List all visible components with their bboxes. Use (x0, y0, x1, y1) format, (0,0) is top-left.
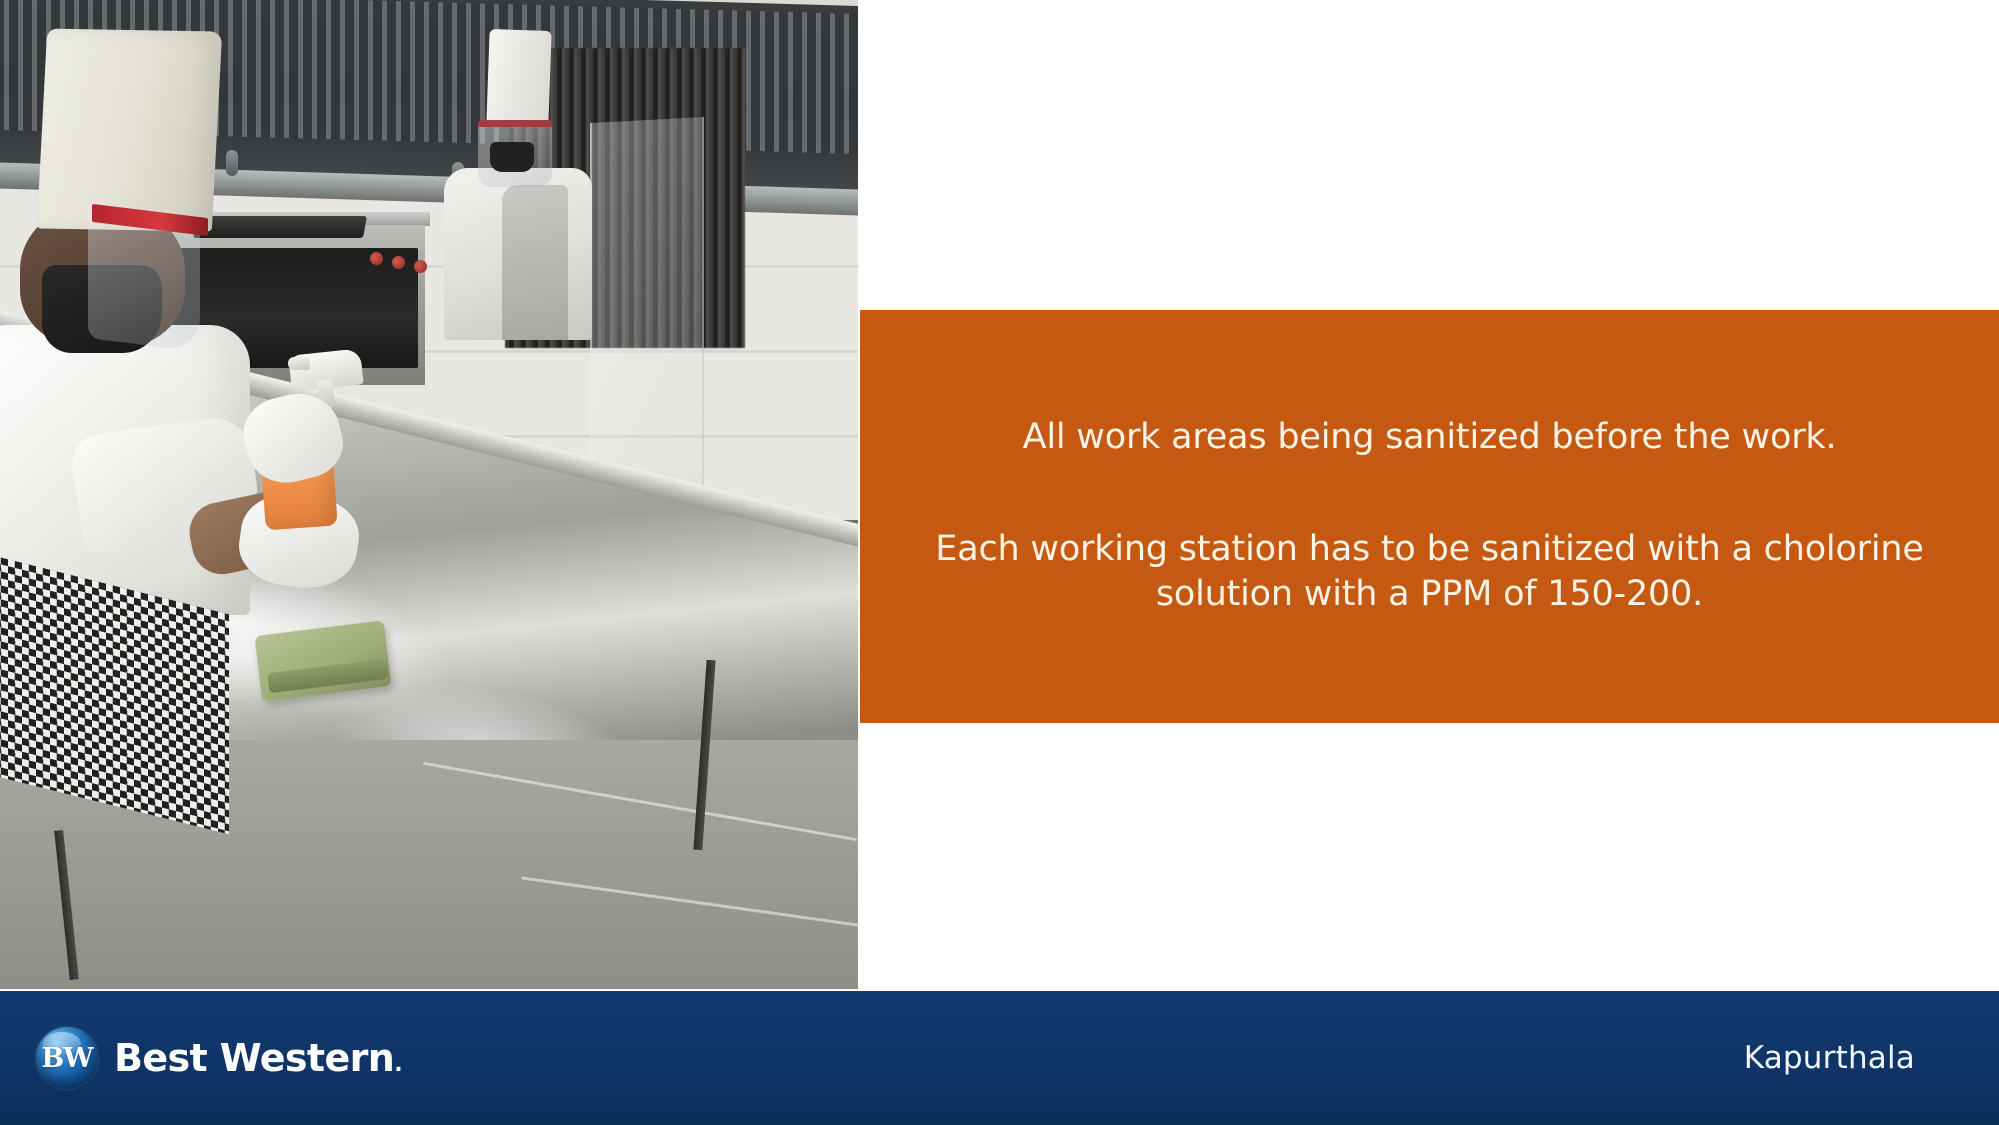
best-western-logo: BW Best Western. (36, 1027, 402, 1089)
bw-sphere-icon: BW (36, 1027, 98, 1089)
caption-panel: All work areas being sanitized before th… (860, 310, 1999, 723)
kitchen-sanitizing-photo (0, 0, 858, 989)
range-knob (414, 260, 427, 273)
footer-bar: BW Best Western. Kapurthala (0, 991, 1999, 1125)
slide-canvas: All work areas being sanitized before th… (0, 0, 1999, 1125)
caption-line-2: Each working station has to be sanitized… (904, 527, 1955, 618)
range-knob (392, 256, 405, 269)
brand-trademark-mark: . (394, 1052, 402, 1077)
brand-wordmark: Best Western. (114, 1036, 402, 1080)
chef-background-apron (502, 185, 568, 340)
chef-background (430, 20, 610, 340)
bw-monogram: BW (41, 1043, 92, 1074)
property-name: Kapurthala (1744, 1040, 1915, 1076)
chef-background-face-mask (490, 142, 534, 172)
range-knob (370, 252, 383, 265)
brand-wordmark-text: Best Western (114, 1036, 394, 1080)
chef-foreground-toque (37, 29, 222, 232)
spray-bottle-nozzle (288, 357, 310, 370)
chef-background-toque (486, 29, 551, 126)
caption-line-1: All work areas being sanitized before th… (1023, 415, 1837, 461)
